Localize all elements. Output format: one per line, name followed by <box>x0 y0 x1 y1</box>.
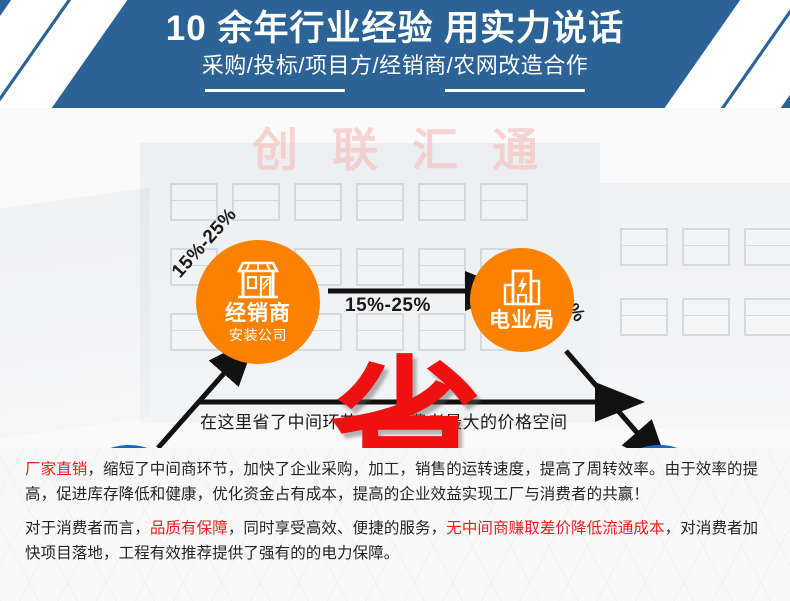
arrow-bureau-to-consumer <box>566 351 640 436</box>
node-power-bureau[interactable]: 电业局 <box>470 248 574 352</box>
header-subtitle: 采购/投标/项目方/经销商/农网改造合作 <box>0 53 790 79</box>
node-power-bureau-title: 电业局 <box>489 309 555 333</box>
savings-character: 省 <box>330 355 482 448</box>
arrow-label-dealer-to-bureau: 15%-25% <box>345 295 431 317</box>
paragraph-1: 厂家直销，缩短了中间商环节，加快了企业采购，加工，销售的运转速度，提高了周转效率… <box>25 457 773 507</box>
header-title: 10 余年行业经验 用实力说话 <box>0 8 790 50</box>
paragraph-1-body: ，缩短了中间商环节，加快了企业采购，加工，销售的运转速度，提高了周转效率。由于效… <box>25 461 758 503</box>
paragraph-1-highlight: 厂家直销 <box>25 461 87 478</box>
paragraph-2: 对于消费者而言，品质有保障，同时享受高效、便捷的服务，无中间商赚取差价降低流通成… <box>25 516 773 566</box>
paragraph-2-highlight-1: 品质有保障 <box>150 520 228 537</box>
paragraph-2-mid: ，同时享受高效、便捷的服务， <box>228 520 446 537</box>
header-divider-gap <box>345 86 445 95</box>
node-dealer-subtitle: 安装公司 <box>229 327 287 344</box>
storefront-icon <box>235 261 281 299</box>
node-dealer-title: 经销商 <box>225 302 291 326</box>
power-building-icon <box>501 268 543 306</box>
promo-banner-page: 10 余年行业经验 用实力说话 采购/投标/项目方/经销商/农网改造合作 创联汇… <box>0 0 790 601</box>
header-banner: 10 余年行业经验 用实力说话 采购/投标/项目方/经销商/农网改造合作 <box>0 0 790 108</box>
paragraph-2-lead: 对于消费者而言， <box>25 520 150 537</box>
paragraph-2-highlight-2: 无中间商赚取差价降低流通成本 <box>446 520 664 537</box>
node-dealer[interactable]: 经销商 安装公司 <box>196 240 320 364</box>
description-section: 厂家直销，缩短了中间商环节，加快了企业采购，加工，销售的运转速度，提高了周转效率… <box>0 448 790 601</box>
flow-diagram: 创联汇通 15%-25% 15%-25% 15%-25% 在这里省了中间环节，给… <box>0 108 790 448</box>
